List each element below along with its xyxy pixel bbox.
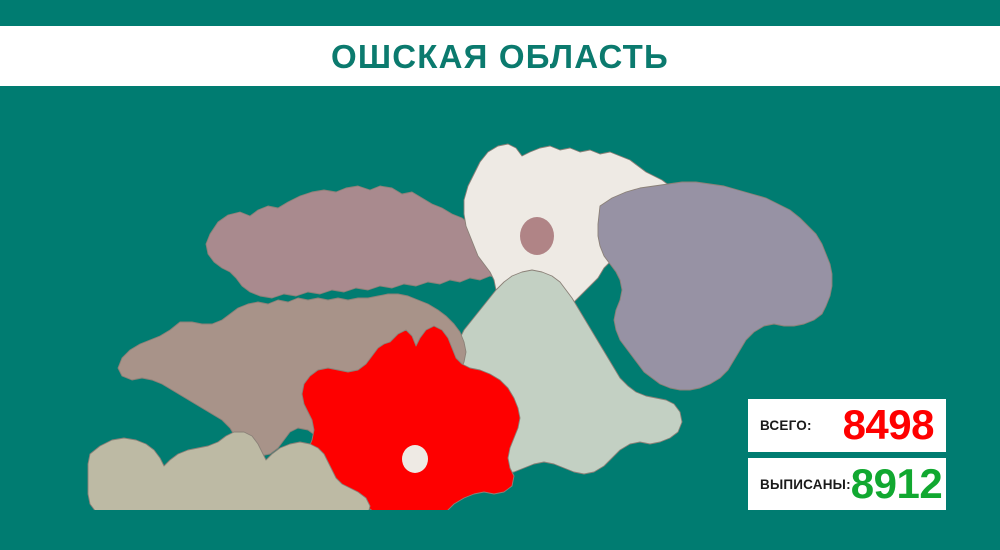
stat-label-recovered: ВЫПИСАНЫ:: [760, 478, 851, 492]
map-region-issyk-kul[interactable]: [598, 182, 832, 390]
stat-row-recovered: ВЫПИСАНЫ: 8912: [748, 458, 946, 511]
stat-row-total: ВСЕГО: 8498: [748, 399, 946, 452]
stat-value-total: 8498: [843, 404, 934, 448]
bottom-teal-bar: [0, 510, 1000, 550]
city-marker-bishkek[interactable]: [520, 217, 554, 255]
page-title: ОШСКАЯ ОБЛАСТЬ: [331, 40, 669, 73]
stat-label-total: ВСЕГО:: [760, 419, 812, 433]
top-teal-bar: [0, 0, 1000, 26]
map-stage: ВСЕГО: 8498 ВЫПИСАНЫ: 8912 УМЕРЛИ: 113: [0, 86, 1000, 550]
infographic-screen: ОШСКАЯ ОБЛАСТЬ ВСЕГО: [0, 0, 1000, 550]
title-band: ОШСКАЯ ОБЛАСТЬ: [0, 26, 1000, 86]
stat-value-recovered: 8912: [851, 463, 942, 507]
city-marker-osh[interactable]: [402, 445, 428, 473]
